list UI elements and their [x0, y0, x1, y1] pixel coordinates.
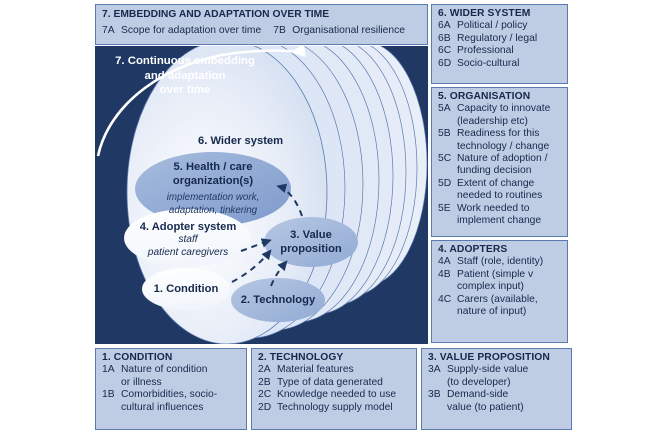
- item-code: 1A: [102, 364, 121, 376]
- item-text: Knowledge needed to use: [277, 389, 411, 401]
- item-text-7b: Organisational resilience: [292, 25, 405, 37]
- item-text: Material features: [277, 364, 411, 376]
- list-item: 2CKnowledge needed to use: [258, 389, 411, 401]
- panel-3-title: 3. VALUE PROPOSITION: [428, 352, 566, 364]
- item-code: 5A: [438, 103, 457, 115]
- item-code: 6A: [438, 20, 457, 32]
- panel-wider-system: 6. WIDER SYSTEM 6APolitical / policy 6BR…: [431, 4, 568, 84]
- list-item: 6BRegulatory / legal: [438, 33, 562, 45]
- label-adopter-system: 4. Adopter system: [119, 221, 257, 233]
- list-item: 5BReadiness for this: [438, 128, 562, 140]
- item-text-cont: funding decision: [438, 165, 562, 177]
- item-code: 3A: [428, 364, 447, 376]
- item-text: Nature of condition: [121, 364, 241, 376]
- item-text: Professional: [457, 45, 562, 57]
- item-text-cont: cultural influences: [102, 402, 241, 414]
- panel-technology: 2. TECHNOLOGY 2AMaterial features 2BType…: [251, 348, 417, 430]
- list-item: 4AStaff (role, identity): [438, 256, 562, 268]
- item-text: Demand-side: [447, 389, 566, 401]
- item-text: Supply-side value: [447, 364, 566, 376]
- item-code: 2B: [258, 377, 277, 389]
- item-text-cont: nature of input): [438, 306, 562, 318]
- panel-4-title: 4. ADOPTERS: [438, 244, 562, 256]
- item-text-cont: technology / change: [438, 141, 562, 153]
- panel-embedding-adaptation: 7. EMBEDDING AND ADAPTATION OVER TIME 7A…: [95, 4, 428, 45]
- list-item: 4CCarers (available,: [438, 294, 562, 306]
- panel-7-title: 7. EMBEDDING AND ADAPTATION OVER TIME: [102, 9, 422, 21]
- panel-value-proposition: 3. VALUE PROPOSITION 3ASupply-side value…: [421, 348, 572, 430]
- item-code: 5C: [438, 153, 457, 165]
- item-text: Political / policy: [457, 20, 562, 32]
- item-code: 6C: [438, 45, 457, 57]
- item-text: Regulatory / legal: [457, 33, 562, 45]
- item-text-cont: needed to routines: [438, 190, 562, 202]
- item-code: 2C: [258, 389, 277, 401]
- list-item: 2AMaterial features: [258, 364, 411, 376]
- item-text: Capacity to innovate: [457, 103, 562, 115]
- item-code: 2A: [258, 364, 277, 376]
- item-code: 1B: [102, 389, 121, 401]
- item-text-cont: (leadership etc): [438, 116, 562, 128]
- item-code: 5E: [438, 203, 457, 215]
- list-item: 5EWork needed to: [438, 203, 562, 215]
- panel-organisation: 5. ORGANISATION 5ACapacity to innovate (…: [431, 87, 568, 237]
- list-item: 2BType of data generated: [258, 377, 411, 389]
- panel-7-items: 7A Scope for adaptation over time 7B Org…: [102, 25, 422, 37]
- item-code-7a: 7A: [102, 25, 121, 37]
- item-text: Staff (role, identity): [457, 256, 562, 268]
- list-item: 6CProfessional: [438, 45, 562, 57]
- list-item: 5ACapacity to innovate: [438, 103, 562, 115]
- list-item: 5CNature of adoption /: [438, 153, 562, 165]
- item-text: Nature of adoption /: [457, 153, 562, 165]
- label-health-care-organization: 5. Health / care organization(s): [137, 160, 289, 188]
- item-code: 4B: [438, 269, 457, 281]
- item-code: 3B: [428, 389, 447, 401]
- item-code: 5B: [438, 128, 457, 140]
- nasss-funnel-stage: 7. Continuous embedding and adaptation o…: [95, 46, 428, 344]
- label-wider-system: 6. Wider system: [198, 135, 283, 147]
- item-code: 6B: [438, 33, 457, 45]
- item-text: Type of data generated: [277, 377, 411, 389]
- item-text: Technology supply model: [277, 402, 411, 414]
- item-text: Comorbidities, socio-: [121, 389, 241, 401]
- label-value-proposition: 3. Value proposition: [263, 228, 359, 256]
- list-item: 3BDemand-side: [428, 389, 566, 401]
- label-continuous-embedding: 7. Continuous embedding and adaptation o…: [95, 54, 275, 98]
- item-text: Socio-cultural: [457, 58, 562, 70]
- label-condition: 1. Condition: [139, 283, 233, 295]
- list-item: 1BComorbidities, socio-: [102, 389, 241, 401]
- label-technology: 2. Technology: [231, 294, 325, 306]
- item-code: 5D: [438, 178, 457, 190]
- panel-1-title: 1. CONDITION: [102, 352, 241, 364]
- item-text-cont: implement change: [438, 215, 562, 227]
- item-code-7b: 7B: [273, 25, 292, 37]
- list-item: 1ANature of condition: [102, 364, 241, 376]
- item-text-cont: value (to patient): [428, 402, 566, 414]
- item-text-7a: Scope for adaptation over time: [121, 25, 261, 37]
- panel-2-title: 2. TECHNOLOGY: [258, 352, 411, 364]
- panel-5-title: 5. ORGANISATION: [438, 91, 562, 103]
- item-code: 4A: [438, 256, 457, 268]
- item-text: Extent of change: [457, 178, 562, 190]
- list-item: 3ASupply-side value: [428, 364, 566, 376]
- diagram-root: 7. EMBEDDING AND ADAPTATION OVER TIME 7A…: [0, 0, 666, 434]
- list-item: 4BPatient (simple v: [438, 269, 562, 281]
- panel-adopters: 4. ADOPTERS 4AStaff (role, identity) 4BP…: [431, 240, 568, 343]
- item-text: Work needed to: [457, 203, 562, 215]
- list-item: 6APolitical / policy: [438, 20, 562, 32]
- item-code: 4C: [438, 294, 457, 306]
- item-text-cont: (to developer): [428, 377, 566, 389]
- panel-condition: 1. CONDITION 1ANature of condition or il…: [95, 348, 247, 430]
- list-item: 6DSocio-cultural: [438, 58, 562, 70]
- item-text-cont: complex input): [438, 281, 562, 293]
- item-code: 2D: [258, 402, 277, 414]
- list-item: 5DExtent of change: [438, 178, 562, 190]
- panel-6-title: 6. WIDER SYSTEM: [438, 8, 562, 20]
- list-item: 2DTechnology supply model: [258, 402, 411, 414]
- item-text: Patient (simple v: [457, 269, 562, 281]
- item-code: 6D: [438, 58, 457, 70]
- item-text-cont: or illness: [102, 377, 241, 389]
- label-organization-subtext: implementation work, adaptation, tinkeri…: [137, 192, 289, 217]
- label-adopter-subtext: staff patient caregivers: [119, 234, 257, 260]
- item-text: Carers (available,: [457, 294, 562, 306]
- spacer: [261, 25, 273, 37]
- item-text: Readiness for this: [457, 128, 562, 140]
